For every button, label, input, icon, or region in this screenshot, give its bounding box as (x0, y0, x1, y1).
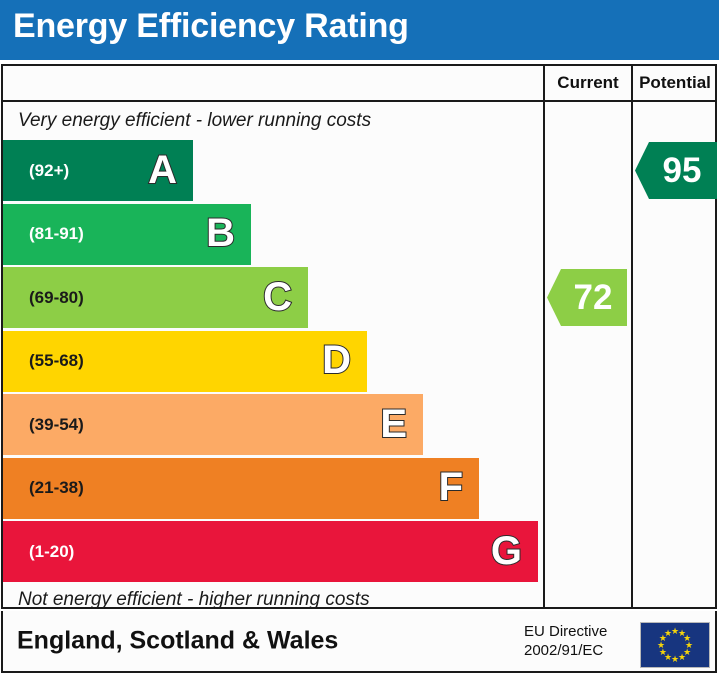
band-letter-label: B (206, 213, 235, 253)
band-letter-label: E (380, 404, 407, 444)
directive-line-1: EU Directive (524, 622, 607, 641)
band-range-label: (81-91) (29, 224, 84, 244)
caption-top: Very energy efficient - lower running co… (3, 102, 541, 140)
column-divider-potential (631, 64, 633, 609)
rating-marker-current: 72 (547, 269, 627, 326)
rating-marker-potential: 95 (635, 142, 717, 199)
column-header-current: Current (545, 64, 631, 102)
rating-bands: (92+)A(81-91)B(69-80)C(55-68)D(39-54)E(2… (3, 140, 541, 580)
rating-band-f: (21-38)F (3, 458, 479, 519)
band-letter-label: G (491, 531, 522, 571)
band-range-label: (92+) (29, 161, 69, 181)
eu-flag-star: ★ (664, 629, 672, 637)
page-title: Energy Efficiency Rating (13, 7, 409, 46)
band-letter-label: A (148, 150, 177, 190)
band-range-label: (21-38) (29, 478, 84, 498)
band-letter-label: D (322, 340, 351, 380)
footer-region-label: England, Scotland & Wales (17, 627, 338, 656)
band-letter-label: C (263, 277, 292, 317)
eu-flag-icon: ★★★★★★★★★★★★ (640, 622, 710, 668)
footer-directive: EU Directive 2002/91/EC (524, 622, 607, 660)
rating-band-e: (39-54)E (3, 394, 423, 455)
rating-band-g: (1-20)G (3, 521, 538, 582)
rating-band-d: (55-68)D (3, 331, 367, 392)
eu-flag-star: ★ (671, 655, 679, 663)
rating-band-c: (69-80)C (3, 267, 308, 328)
eu-flag-star: ★ (678, 653, 686, 661)
directive-line-2: 2002/91/EC (524, 641, 607, 660)
band-letter-label: F (439, 467, 463, 507)
band-range-label: (55-68) (29, 351, 84, 371)
rating-band-b: (81-91)B (3, 204, 251, 265)
energy-efficiency-rating-chart: Energy Efficiency Rating Current Potenti… (0, 0, 719, 675)
band-range-label: (39-54) (29, 415, 84, 435)
column-divider-current (543, 64, 545, 609)
band-range-label: (1-20) (29, 542, 74, 562)
chart-footer: England, Scotland & Wales EU Directive 2… (1, 611, 717, 673)
rating-band-a: (92+)A (3, 140, 193, 201)
chart-title-bar: Energy Efficiency Rating (0, 0, 719, 60)
band-range-label: (69-80) (29, 288, 84, 308)
column-header-potential: Potential (633, 64, 717, 102)
